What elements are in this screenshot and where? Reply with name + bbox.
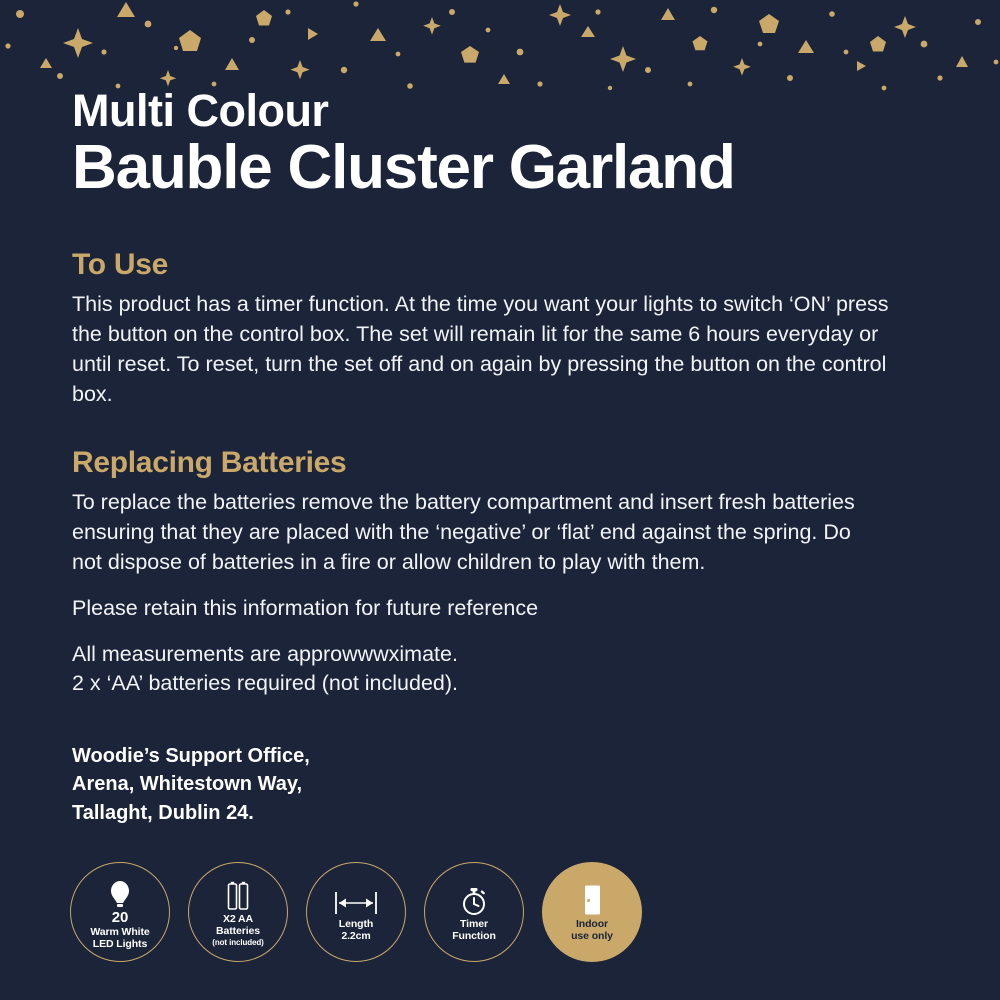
badge-batteries-line3: Batteries — [216, 925, 260, 937]
confetti-decoration — [0, 0, 1000, 95]
badge-batteries-text: X2 AA Batteries (not included) — [212, 913, 263, 947]
badge-length-text: Length 2.2cm — [339, 918, 373, 943]
address-line-1: Woodie’s Support Office, — [72, 742, 922, 770]
product-info-panel: Multi Colour Bauble Cluster Garland To U… — [0, 0, 1000, 1000]
address-line-2: Arena, Whitestown Way, — [72, 770, 922, 798]
badge-indoor-use-line3: use only — [571, 930, 613, 942]
badge-led-lights-text: 20 Warm White LED Lights — [90, 910, 149, 951]
badge-length-line3: 2.2cm — [341, 930, 370, 942]
product-title-line2: Bauble Cluster Garland — [72, 135, 952, 200]
feature-badges: 20 Warm White LED Lights X2 AA Batteries… — [70, 862, 642, 962]
batteries-icon — [226, 877, 250, 911]
badge-length-line2: Length — [339, 918, 373, 930]
badge-led-lights-line2: Warm White — [90, 926, 149, 938]
timer-icon — [460, 882, 488, 916]
bulb-icon — [110, 874, 130, 908]
section-to-use-heading: To Use — [72, 248, 922, 282]
badge-batteries-line4: (not included) — [212, 938, 263, 947]
badge-indoor-use: Indoor use only — [542, 862, 642, 962]
section-to-use: To Use This product has a timer function… — [72, 248, 922, 410]
section-replacing-batteries: Replacing Batteries To replace the batte… — [72, 446, 922, 699]
measurements-paragraph: All measurements are approwwwximate. 2 x… — [72, 640, 922, 700]
support-office-address: Woodie’s Support Office, Arena, Whitesto… — [72, 742, 922, 827]
badge-timer-text: Timer Function — [452, 918, 496, 943]
badge-length: Length 2.2cm — [306, 862, 406, 962]
product-title-line1: Multi Colour — [72, 88, 952, 133]
retain-info-paragraph: Please retain this information for futur… — [72, 594, 922, 624]
badge-led-lights-line3: LED Lights — [93, 938, 147, 950]
badge-led-lights-line1: 20 — [90, 910, 149, 926]
product-title: Multi Colour Bauble Cluster Garland — [72, 88, 952, 200]
badge-indoor-use-line2: Indoor — [576, 918, 608, 930]
length-arrow-icon — [333, 882, 379, 916]
section-replacing-batteries-heading: Replacing Batteries — [72, 446, 922, 480]
badge-batteries-line2: X2 AA — [223, 913, 253, 925]
replacing-batteries-paragraph: To replace the batteries remove the batt… — [72, 488, 862, 578]
door-indoor-icon — [580, 882, 604, 916]
badge-timer-line2: Timer — [460, 918, 488, 930]
badge-indoor-use-text: Indoor use only — [571, 918, 613, 943]
address-line-3: Tallaght, Dublin 24. — [72, 799, 922, 827]
badge-timer: Timer Function — [424, 862, 524, 962]
badge-timer-line3: Function — [452, 930, 496, 942]
section-to-use-paragraph: This product has a timer function. At th… — [72, 290, 902, 410]
badge-led-lights: 20 Warm White LED Lights — [70, 862, 170, 962]
badge-batteries: X2 AA Batteries (not included) — [188, 862, 288, 962]
